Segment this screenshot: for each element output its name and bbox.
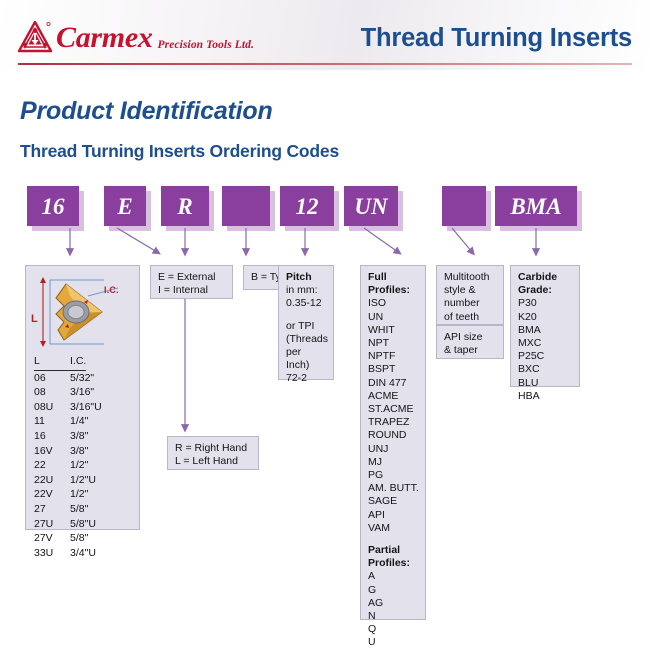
api-line-2: & taper bbox=[444, 344, 497, 357]
full-profiles-list: ISOUNWHITNPTNPTFBSPTDIN 477ACMEST.ACMETR… bbox=[368, 297, 419, 535]
multitooth-line-4: of teeth bbox=[444, 311, 497, 324]
full-profile-item: API bbox=[368, 509, 419, 522]
pitch-line-1: in mm: bbox=[286, 284, 327, 297]
table-row: 27U5/8"U bbox=[34, 517, 142, 532]
partial-profiles-title-1: Partial bbox=[368, 544, 419, 557]
table-row: 08U3/16"U bbox=[34, 400, 142, 415]
code-box-size[interactable]: 16 bbox=[27, 186, 79, 226]
dimension-cell-ic: 3/16"U bbox=[70, 400, 102, 415]
carbide-grade-item: P25C bbox=[518, 350, 573, 363]
dimension-cell-ic: 5/32" bbox=[70, 371, 94, 386]
brand-tagline: Precision Tools Ltd. bbox=[158, 39, 254, 51]
dimension-table-header: L I.C. bbox=[34, 354, 142, 371]
box-pitch: Pitch in mm: 0.35-12 or TPI (Threads per… bbox=[278, 265, 334, 380]
dimension-cell-ic: 1/2" bbox=[70, 458, 88, 473]
dimension-cell-ic: 5/8" bbox=[70, 531, 88, 546]
table-row: 083/16" bbox=[34, 385, 142, 400]
dimension-cell-l: 16V bbox=[34, 444, 70, 459]
dimension-cell-l: 16 bbox=[34, 429, 70, 444]
code-box-carbide[interactable]: BMA bbox=[495, 186, 577, 226]
pitch-title: Pitch bbox=[286, 271, 327, 284]
full-profile-item: VAM bbox=[368, 522, 419, 535]
section-subtitle: Thread Turning Inserts Ordering Codes bbox=[20, 141, 339, 162]
dimension-header-ic: I.C. bbox=[70, 354, 86, 371]
table-row: 16V3/8" bbox=[34, 444, 142, 459]
dimension-cell-ic: 5/8"U bbox=[70, 517, 96, 532]
box-multitooth: Multitooth style & number of teeth bbox=[436, 265, 504, 325]
pitch-line-6: 72-2 bbox=[286, 372, 327, 385]
dimension-cell-l: 06 bbox=[34, 371, 70, 386]
full-profile-item: PG bbox=[368, 469, 419, 482]
pitch-line-5: per Inch) bbox=[286, 346, 327, 372]
partial-profile-item: U bbox=[368, 636, 419, 649]
full-profile-item: WHIT bbox=[368, 324, 419, 337]
dimension-cell-ic: 3/8" bbox=[70, 444, 88, 459]
box-carbide: Carbide Grade: P30K20BMAMXCP25CBXCBLUHBA bbox=[510, 265, 580, 387]
partial-profile-item: G bbox=[368, 584, 419, 597]
table-row: 065/32" bbox=[34, 371, 142, 386]
section-title: Product Identification bbox=[20, 97, 273, 126]
table-row: 22U1/2"U bbox=[34, 473, 142, 488]
code-box-type[interactable] bbox=[222, 186, 270, 226]
page-title: Thread Turning Inserts bbox=[361, 24, 632, 53]
dimension-cell-ic: 5/8" bbox=[70, 502, 88, 517]
code-box-hand-type[interactable]: E bbox=[104, 186, 146, 226]
dimension-cell-ic: 3/8" bbox=[70, 429, 88, 444]
dimension-label-ic: I.C. bbox=[104, 285, 119, 295]
arrow-to-profiles bbox=[364, 228, 398, 252]
carbide-grade-item: HBA bbox=[518, 390, 573, 403]
multitooth-line-2: style & bbox=[444, 284, 497, 297]
brand-logo: Carmex Precision Tools Ltd. bbox=[18, 21, 254, 53]
dimension-cell-l: 08U bbox=[34, 400, 70, 415]
dimension-cell-l: 33U bbox=[34, 546, 70, 561]
pitch-line-4: (Threads bbox=[286, 333, 327, 346]
full-profile-item: ROUND bbox=[368, 429, 419, 442]
carbide-grade-item: BLU bbox=[518, 377, 573, 390]
carmex-triangle-logo-icon bbox=[18, 21, 52, 53]
full-profiles-title-1: Full bbox=[368, 271, 419, 284]
carbide-grade-item: BMA bbox=[518, 324, 573, 337]
direction-line-1: R = Right Hand bbox=[175, 442, 252, 455]
table-row: 33U3/4"U bbox=[34, 546, 142, 561]
partial-profiles-list: AGAGNQU bbox=[368, 570, 419, 649]
dimension-cell-ic: 3/4"U bbox=[70, 546, 96, 561]
partial-profile-item: N bbox=[368, 610, 419, 623]
pitch-line-2: 0.35-12 bbox=[286, 297, 327, 310]
partial-profiles-title-2: Profiles: bbox=[368, 557, 419, 570]
partial-profile-item: A bbox=[368, 570, 419, 583]
table-row: 111/4" bbox=[34, 414, 142, 429]
full-profile-item: AM. BUTT. bbox=[368, 482, 419, 495]
full-profile-item: UNJ bbox=[368, 443, 419, 456]
full-profiles-title-2: Profiles: bbox=[368, 284, 419, 297]
pitch-line-3: or TPI bbox=[286, 320, 327, 333]
dimension-cell-l: 08 bbox=[34, 385, 70, 400]
carbide-grade-item: MXC bbox=[518, 337, 573, 350]
dimension-cell-ic: 1/2"U bbox=[70, 473, 96, 488]
page-header: Carmex Precision Tools Ltd. Thread Turni… bbox=[0, 0, 650, 70]
dimension-cell-l: 27U bbox=[34, 517, 70, 532]
dimension-cell-l: 11 bbox=[34, 414, 70, 429]
code-box-multitooth[interactable] bbox=[442, 186, 486, 226]
carbide-grade-item: K20 bbox=[518, 311, 573, 324]
direction-line-2: L = Left Hand bbox=[175, 455, 252, 468]
partial-profile-item: Q bbox=[368, 623, 419, 636]
code-box-profile[interactable]: UN bbox=[344, 186, 398, 226]
full-profile-item: TRAPEZ bbox=[368, 416, 419, 429]
full-profile-item: SAGE bbox=[368, 495, 419, 508]
code-box-direction[interactable]: R bbox=[161, 186, 209, 226]
carbide-grade-item: P30 bbox=[518, 297, 573, 310]
dimension-cell-ic: 3/16" bbox=[70, 385, 94, 400]
full-profile-item: DIN 477 bbox=[368, 377, 419, 390]
threading-insert-icon bbox=[26, 266, 139, 358]
table-row: 163/8" bbox=[34, 429, 142, 444]
dimension-cell-l: 22 bbox=[34, 458, 70, 473]
carbide-grade-list: P30K20BMAMXCP25CBXCBLUHBA bbox=[518, 297, 573, 403]
multitooth-line-3: number bbox=[444, 297, 497, 310]
hand-type-line-1: E = External bbox=[158, 271, 226, 284]
carbide-grade-item: BXC bbox=[518, 363, 573, 376]
arrow-to-multitooth bbox=[452, 228, 472, 252]
connector-arrows bbox=[0, 226, 650, 266]
carbide-title-1: Carbide bbox=[518, 271, 573, 284]
brand-name: Carmex bbox=[56, 23, 153, 53]
partial-profile-item: AG bbox=[368, 597, 419, 610]
box-hand-type: E = External I = Internal bbox=[150, 265, 233, 299]
dimension-cell-l: 22U bbox=[34, 473, 70, 488]
table-row: 275/8" bbox=[34, 502, 142, 517]
box-profiles: Full Profiles: ISOUNWHITNPTNPTFBSPTDIN 4… bbox=[360, 265, 426, 620]
full-profile-item: ISO bbox=[368, 297, 419, 310]
full-profile-item: NPT bbox=[368, 337, 419, 350]
box-direction: R = Right Hand L = Left Hand bbox=[167, 436, 259, 470]
table-row: 27V5/8" bbox=[34, 531, 142, 546]
full-profile-item: MJ bbox=[368, 456, 419, 469]
carbide-title-2: Grade: bbox=[518, 284, 573, 297]
dimension-cell-l: 27 bbox=[34, 502, 70, 517]
arrow-to-hand-type bbox=[117, 228, 157, 252]
code-box-pitch[interactable]: 12 bbox=[280, 186, 334, 226]
dimension-header-l: L bbox=[34, 354, 70, 371]
table-row: 221/2" bbox=[34, 458, 142, 473]
dimension-cell-ic: 1/2" bbox=[70, 487, 88, 502]
full-profile-item: ACME bbox=[368, 390, 419, 403]
api-line-1: API size bbox=[444, 331, 497, 344]
dimension-label-l: L bbox=[31, 313, 38, 325]
dimension-cell-ic: 1/4" bbox=[70, 414, 88, 429]
full-profile-item: NPTF bbox=[368, 350, 419, 363]
box-api: API size & taper bbox=[436, 325, 504, 359]
dimension-cell-l: 22V bbox=[34, 487, 70, 502]
dimension-table-body: 065/32"083/16"08U3/16"U111/4"163/8"16V3/… bbox=[34, 371, 142, 561]
full-profile-item: UN bbox=[368, 311, 419, 324]
full-profile-item: ST.ACME bbox=[368, 403, 419, 416]
dimension-cell-l: 27V bbox=[34, 531, 70, 546]
dimension-table: L I.C. 065/32"083/16"08U3/16"U111/4"163/… bbox=[34, 354, 142, 560]
table-row: 22V1/2" bbox=[34, 487, 142, 502]
hand-type-line-2: I = Internal bbox=[158, 284, 226, 297]
full-profile-item: BSPT bbox=[368, 363, 419, 376]
header-divider bbox=[18, 63, 632, 65]
multitooth-line-1: Multitooth bbox=[444, 271, 497, 284]
